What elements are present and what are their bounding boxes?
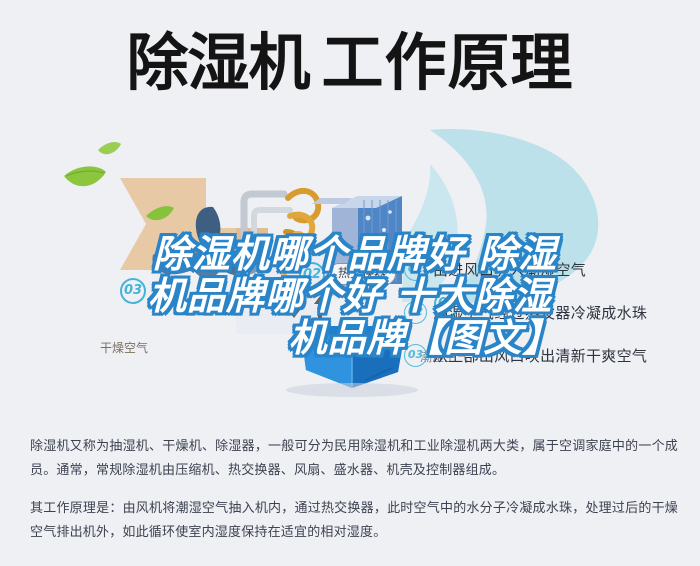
diagram-marker-03: 03 [120,278,146,304]
page-title: 除湿机工作原理 [0,28,700,98]
step-text-01: 由进风口吸入潮湿空气 [433,259,586,280]
body-paragraph-2: 其工作原理是：由风机将潮湿空气抽入机内，通过热交换器，此时空气中的水分子冷凝成水… [30,497,678,545]
step-row-02: 02潮湿空气经过蒸发器冷凝成水珠 [404,301,700,344]
page-root: 除湿机工作原理 [0,0,700,566]
base-shadow [286,383,418,397]
step-row-01: 01由进风口吸入潮湿空气 [404,258,700,301]
step-text-03: 从上部出风口吹出清新干爽空气 [433,345,647,366]
step-row-03: 03从上部出风口吹出清新干爽空气 [404,344,700,387]
callout-tail-icon [360,284,374,302]
heat-exchanger-callout: 热交换器 [328,263,396,285]
step-number-01: 01 [404,258,427,281]
label-dry-air: 干燥空气 [100,339,148,356]
body-paragraph-1: 除湿机又称为抽湿机、干燥机、除湿器，一般可分为民用除湿机和工业除湿机两大类，属于… [30,435,678,483]
step-text-02: 潮湿空气经过蒸发器冷凝成水珠 [433,302,647,323]
machine-housing [236,248,330,334]
step-number-02: 02 [404,301,427,324]
step-list: 01由进风口吸入潮湿空气 02潮湿空气经过蒸发器冷凝成水珠 03从上部出风口吹出… [404,258,700,387]
step-number-03: 03 [404,344,427,367]
title-part-one: 除湿机 [126,28,309,98]
diagram-marker-02: 02 [299,262,325,288]
title-part-two: 工作原理 [322,28,574,98]
water-tank [300,326,406,388]
